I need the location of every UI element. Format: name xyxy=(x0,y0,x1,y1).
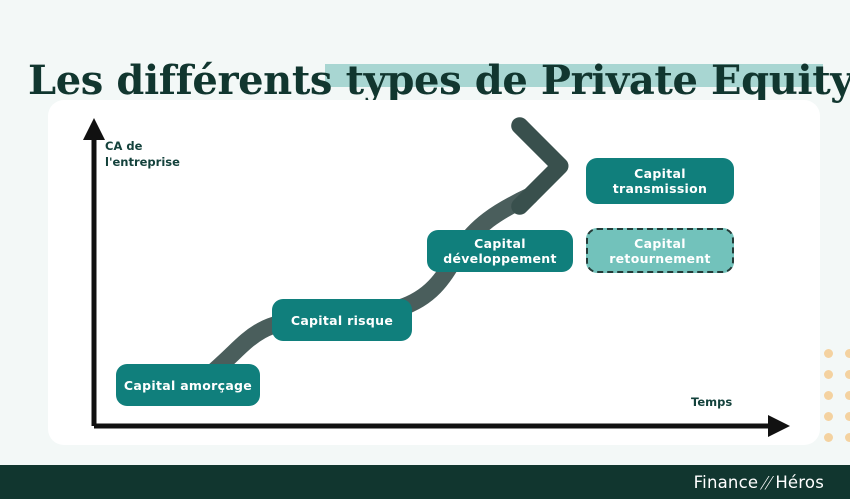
chart-card: CA de l'entreprise Temps Capital amorçag… xyxy=(48,100,820,445)
dot xyxy=(824,433,833,442)
footer-bar: Finance // Héros xyxy=(0,465,850,499)
page-title: Les différents types de Private Equity xyxy=(28,55,838,107)
brand-name-first: Finance xyxy=(694,473,759,492)
stage-box-capital-amorcage[interactable]: Capital amorçage xyxy=(116,364,260,406)
dot xyxy=(845,433,850,442)
x-axis-label: Temps xyxy=(691,394,732,410)
brand-name-second: Héros xyxy=(775,473,824,492)
x-axis xyxy=(94,415,790,437)
stage-box-capital-transmission[interactable]: Capital transmission xyxy=(586,158,734,204)
dot xyxy=(845,391,850,400)
dot xyxy=(824,370,833,379)
dot xyxy=(824,349,833,358)
stage-box-capital-risque[interactable]: Capital risque xyxy=(272,299,412,341)
dot xyxy=(845,349,850,358)
stage-box-capital-developpement[interactable]: Capital développement xyxy=(427,230,573,272)
title-area: Les différents types de Private Equity xyxy=(0,16,850,84)
dot xyxy=(824,412,833,421)
brand-logo: Finance // Héros xyxy=(694,465,824,499)
dot xyxy=(845,370,850,379)
y-axis xyxy=(83,118,105,426)
dot xyxy=(824,391,833,400)
stage-box-capital-retournement[interactable]: Capital retournement xyxy=(586,228,734,273)
y-axis-label: CA de l'entreprise xyxy=(105,138,180,170)
dot xyxy=(845,412,850,421)
brand-slash-icon: // xyxy=(757,473,776,492)
